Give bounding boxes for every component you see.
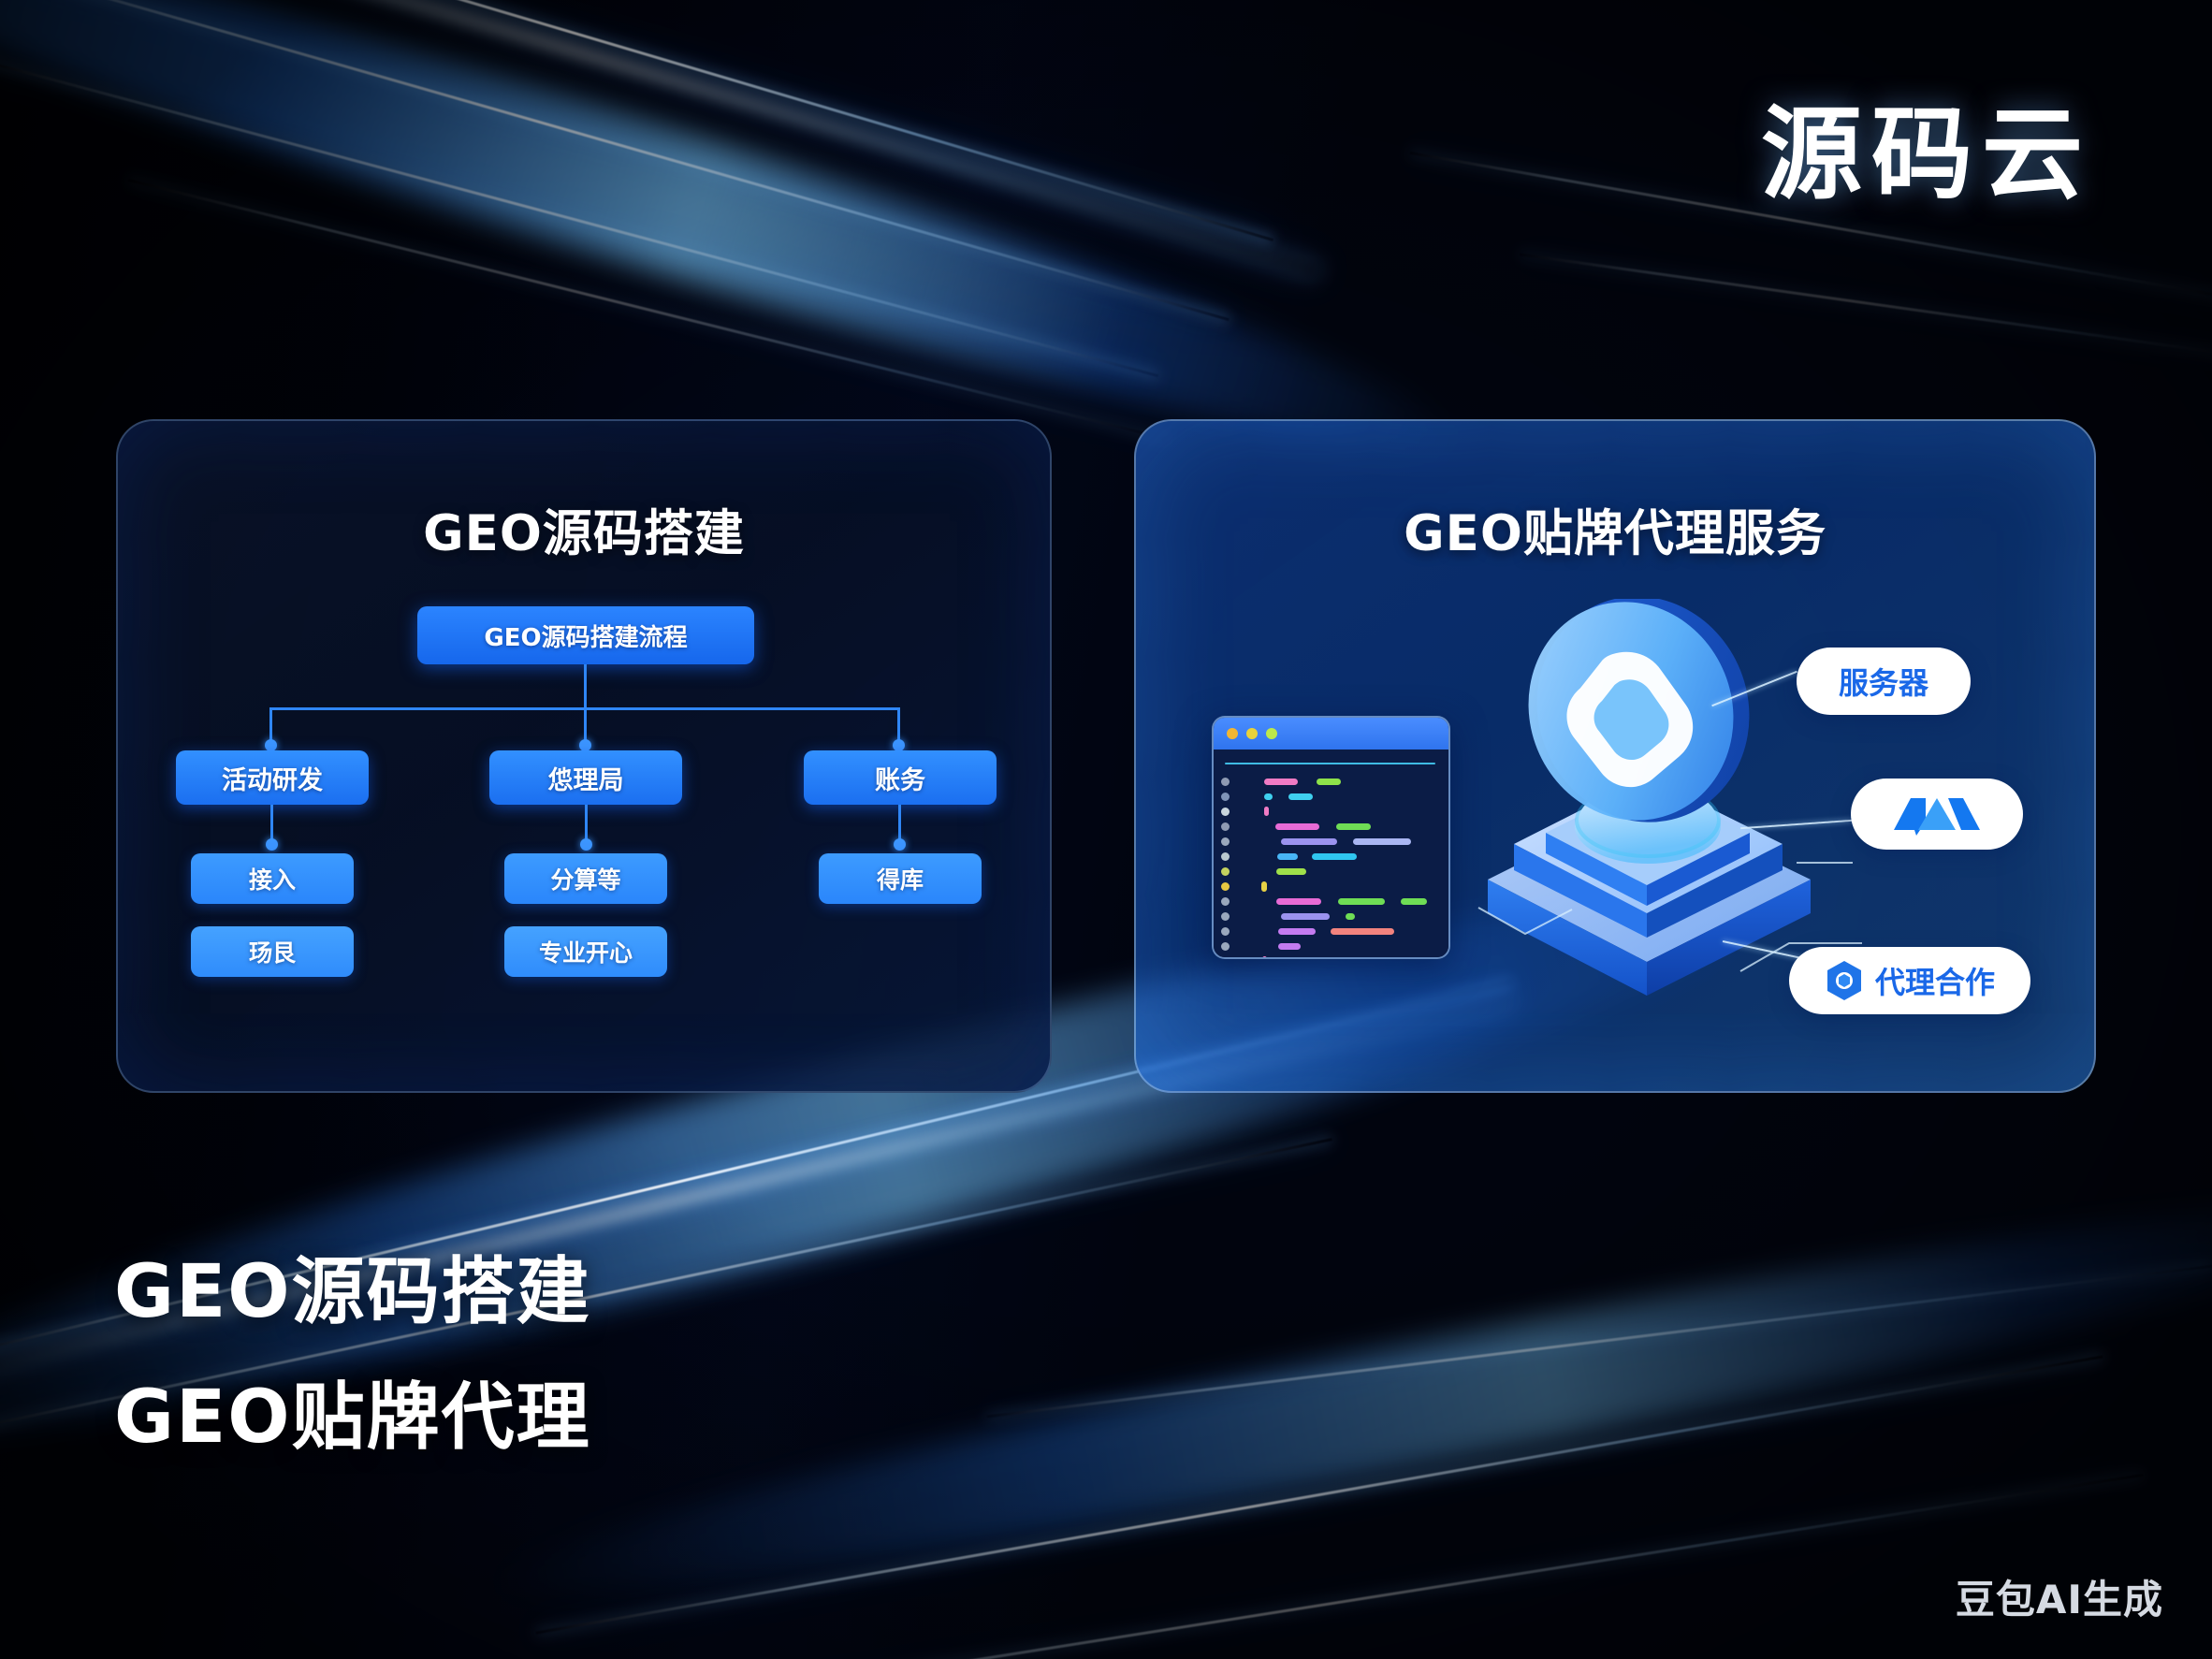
- code-editor-illustration: [1212, 716, 1450, 959]
- code-editor-body: [1214, 749, 1448, 957]
- pill-agency-label: 代理合作: [1875, 959, 1995, 1002]
- window-dot-yellow: [1227, 728, 1238, 739]
- code-line: [1221, 924, 1439, 939]
- pill-server[interactable]: 服务器: [1797, 648, 1971, 715]
- brand-title: 源码云: [1761, 73, 2092, 219]
- code-line: [1221, 774, 1439, 789]
- code-editor-divider: [1225, 763, 1435, 764]
- code-line: [1221, 864, 1439, 879]
- code-line: [1221, 819, 1439, 834]
- pill-agency-cooperation[interactable]: 代理合作: [1789, 947, 2030, 1014]
- watermark: 豆包AI生成: [1956, 1568, 2163, 1625]
- flow-node-level2-col3[interactable]: 得库: [819, 853, 982, 904]
- headline-line-2: GEO贴牌代理: [114, 1359, 591, 1463]
- flow-node-level1-col3[interactable]: 账务: [804, 750, 997, 805]
- flow-node-dot: [580, 838, 592, 851]
- code-line: [1221, 939, 1439, 953]
- flow-node-root[interactable]: GEO源码搭建流程: [417, 606, 754, 664]
- code-line: [1221, 849, 1439, 864]
- code-line: [1221, 894, 1439, 909]
- code-line: [1221, 879, 1439, 894]
- flow-node-level3-col1[interactable]: 玚艮: [191, 926, 354, 977]
- flow-edge: [584, 664, 587, 707]
- code-line: [1221, 909, 1439, 924]
- hexagon-icon: [1825, 959, 1864, 1002]
- window-dot-olive: [1246, 728, 1258, 739]
- flow-node-level2-col2[interactable]: 分算等: [504, 853, 667, 904]
- poster-canvas: 源码云 GEO源码搭建 GEO源码搭建流程 活动研发 怹理局 账务: [0, 0, 2212, 1659]
- pill-brand-mark[interactable]: [1851, 779, 2023, 850]
- flow-node-dot: [894, 838, 906, 851]
- panel-geo-source-build: GEO源码搭建 GEO源码搭建流程 活动研发 怹理局 账务: [116, 419, 1052, 1093]
- flow-node-level2-col1[interactable]: 接入: [191, 853, 354, 904]
- pill-server-label: 服务器: [1839, 660, 1928, 703]
- headline-line-1: GEO源码搭建: [114, 1233, 591, 1338]
- flow-node-level1-col1[interactable]: 活动研发: [176, 750, 369, 805]
- flowchart: GEO源码搭建流程 活动研发 怹理局 账务 接入 分: [118, 421, 1054, 1095]
- code-editor-titlebar: [1214, 718, 1448, 749]
- brand-mark-icon: [1888, 793, 1986, 836]
- flow-node-dot: [266, 838, 278, 851]
- code-line: [1221, 834, 1439, 849]
- flow-node-level1-col2[interactable]: 怹理局: [489, 750, 682, 805]
- cloud-disc-icon: [1496, 599, 1783, 854]
- code-line: [1221, 789, 1439, 804]
- code-line: [1221, 804, 1439, 819]
- flow-node-level3-col2[interactable]: 专业开心: [504, 926, 667, 977]
- panel-right-title: GEO贴牌代理服务: [1136, 494, 2094, 565]
- window-dot-green: [1266, 728, 1277, 739]
- code-line: [1221, 953, 1439, 959]
